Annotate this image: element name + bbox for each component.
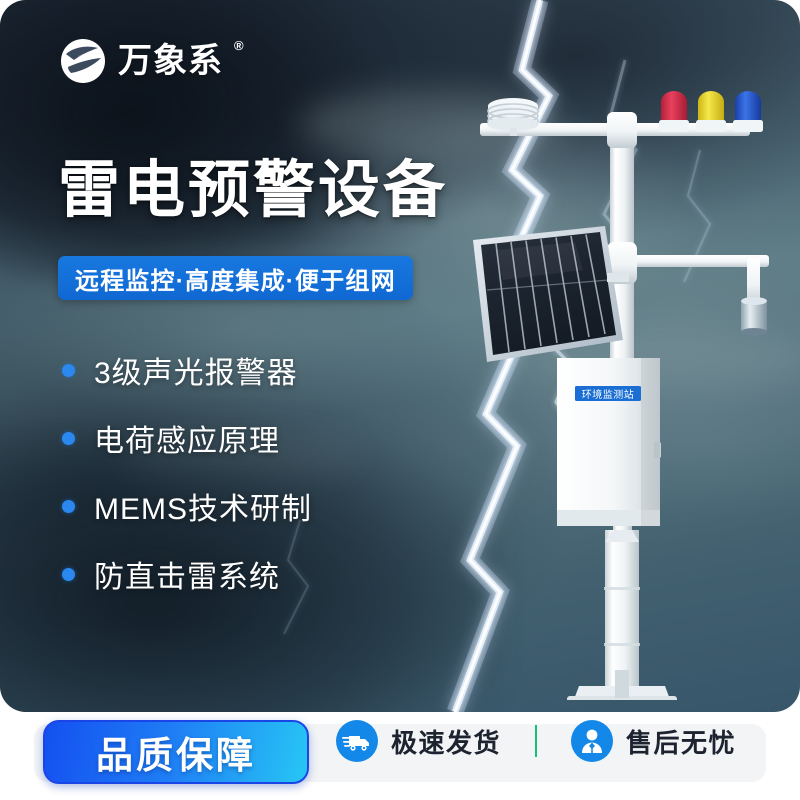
customer-service-icon bbox=[571, 720, 613, 762]
service-label: 极速发货 bbox=[391, 723, 501, 760]
service-after-sales[interactable]: 售后无忧 bbox=[571, 720, 736, 762]
blue-alarm-beacon bbox=[733, 91, 763, 132]
subtitle-pill: 远程监控·高度集成·便于组网 bbox=[58, 256, 413, 300]
service-fast-shipping[interactable]: 极速发货 bbox=[336, 720, 501, 762]
delivery-truck-icon bbox=[336, 720, 378, 762]
quality-badge-label: 品质保障 bbox=[96, 725, 256, 779]
yellow-alarm-beacon bbox=[696, 91, 726, 132]
registered-trademark-icon: ® bbox=[234, 38, 244, 53]
service-label: 售后无忧 bbox=[626, 723, 736, 760]
control-box: 环境监测站 bbox=[557, 358, 661, 526]
list-item: 3级声光报警器 bbox=[62, 348, 312, 392]
list-item: MEMS技术研制 bbox=[62, 484, 312, 528]
list-item: 防直击雷系统 bbox=[62, 552, 312, 596]
list-item: 电荷感应原理 bbox=[62, 416, 312, 460]
control-box-label: 环境监测站 bbox=[582, 388, 635, 401]
product-poster: 万象系 ® 雷电预警设备 远程监控·高度集成·便于组网 3级声光报警器 电荷感应… bbox=[0, 0, 800, 800]
bullet-dot-icon bbox=[62, 432, 75, 445]
bullet-dot-icon bbox=[62, 568, 75, 581]
page-title: 雷电预警设备 bbox=[58, 158, 448, 223]
red-alarm-beacon bbox=[659, 91, 689, 132]
product-image: 环境监测站 bbox=[455, 90, 800, 700]
globe-swoosh-logo-icon bbox=[58, 36, 108, 86]
rain-gauge-sensor bbox=[741, 297, 767, 336]
feature-label: 电荷感应原理 bbox=[94, 416, 280, 460]
feature-label: 3级声光报警器 bbox=[94, 348, 298, 392]
bullet-dot-icon bbox=[62, 500, 75, 513]
alarm-beacon-stack bbox=[659, 91, 763, 132]
footer-bar: 品质保障 极速发货 bbox=[0, 710, 800, 800]
base-plate bbox=[567, 670, 677, 700]
feature-label: 防直击雷系统 bbox=[94, 552, 280, 596]
brand-logo: 万象系 ® bbox=[58, 36, 244, 86]
quality-badge[interactable]: 品质保障 bbox=[43, 720, 309, 784]
feature-list: 3级声光报警器 电荷感应原理 MEMS技术研制 防直击雷系统 bbox=[62, 348, 312, 596]
solar-panel bbox=[473, 226, 629, 362]
service-guarantees: 极速发货 售后无忧 bbox=[336, 720, 736, 762]
feature-label: MEMS技术研制 bbox=[94, 484, 312, 528]
brand-name: 万象系 bbox=[118, 44, 223, 78]
bullet-dot-icon bbox=[62, 364, 75, 377]
service-divider bbox=[535, 725, 537, 757]
